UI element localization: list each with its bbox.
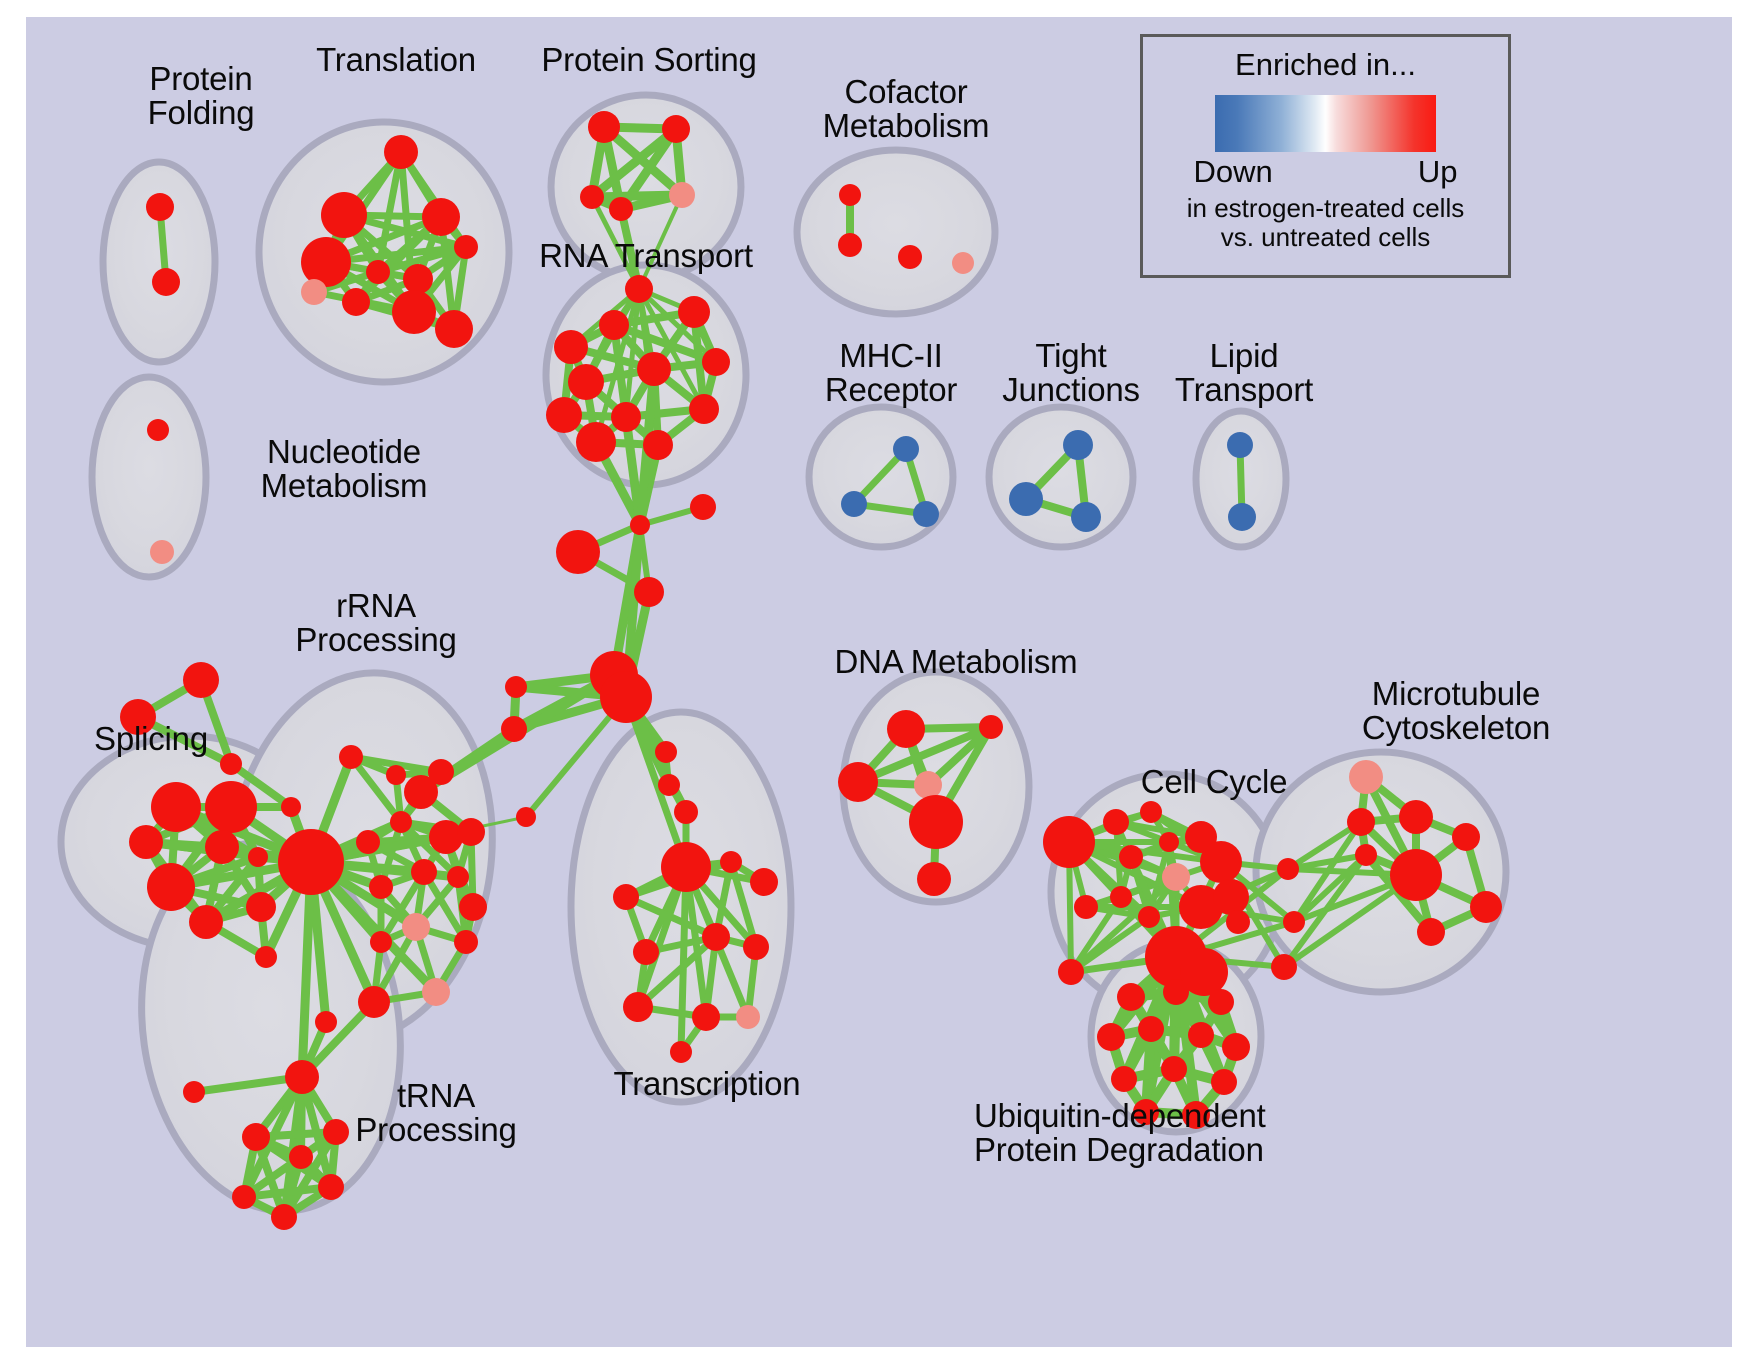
legend-endpoints: Down Up (1198, 154, 1454, 190)
legend-up-label: Up (1418, 154, 1458, 190)
legend-color-gradient-bar (1215, 95, 1436, 152)
hull-nucleotide (92, 377, 206, 577)
hull-cofactor (797, 150, 995, 314)
legend-down-label: Down (1194, 154, 1273, 190)
legend-panel: Enriched in... Down Up in estrogen-treat… (1140, 34, 1511, 278)
network-canvas: Protein Folding Translation Protein Sort… (26, 17, 1732, 1347)
hull-tight-junctions (989, 407, 1133, 547)
hull-protein-folding (103, 162, 215, 362)
figure-stage: Protein Folding Translation Protein Sort… (0, 0, 1750, 1360)
hull-protein-sorting (551, 95, 741, 279)
legend-title: Enriched in... (1143, 47, 1508, 83)
legend-caption: in estrogen-treated cells vs. untreated … (1143, 194, 1508, 252)
